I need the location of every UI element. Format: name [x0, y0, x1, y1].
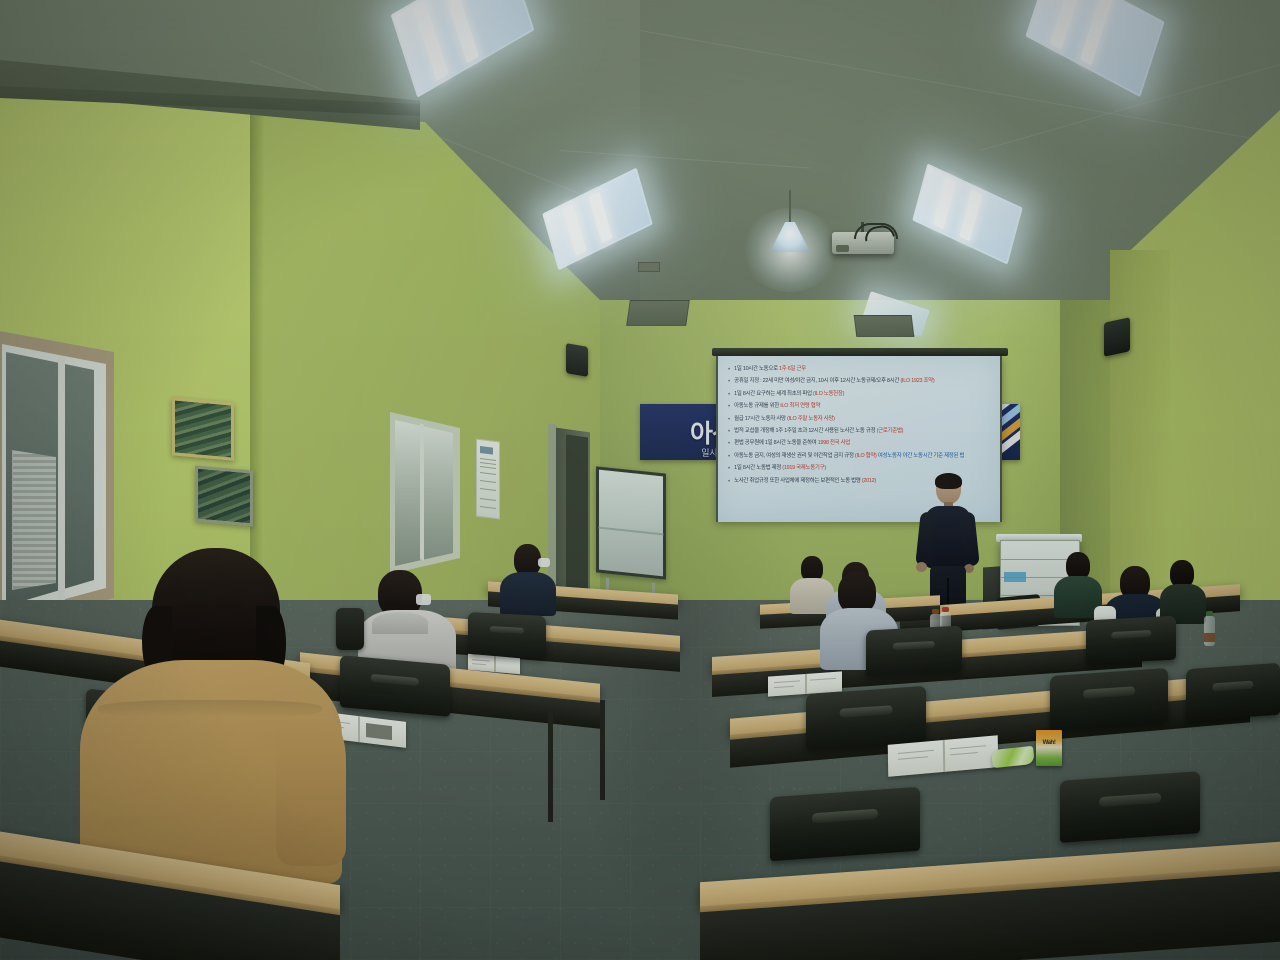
poster-line	[480, 458, 496, 461]
water-bottle	[1204, 616, 1215, 646]
slide-highlight-red: (근로기준법)	[877, 428, 904, 434]
text-line	[472, 659, 490, 662]
window-sash	[58, 355, 65, 601]
door-opening	[566, 434, 588, 605]
slide-highlight-red: (ILO 협약)	[855, 453, 877, 459]
text-line	[774, 680, 800, 683]
attendee	[1160, 560, 1206, 620]
attendee-body	[500, 572, 556, 616]
chair-handle-slot	[371, 673, 419, 686]
bullet-icon: •	[728, 478, 730, 486]
chair[interactable]	[866, 625, 962, 676]
chair-handle-slot	[1083, 686, 1135, 698]
slide-bullet-text: 월급 17시간 노동자 사망 (ILO 주말 노동자 사망)	[734, 416, 835, 424]
window-mullion	[420, 424, 424, 561]
slide-highlight-red: (1919 국제노동기구)	[782, 465, 826, 471]
slide-bullet-text: 1일 8시간 요구하는 세계 최초의 파업 (ILO 노동헌장)	[734, 391, 844, 399]
slide-highlight-red: (ILO 1923 조약)	[900, 378, 934, 384]
slide-highlight-red: (ILO 주말 노동자 사망)	[787, 416, 835, 422]
chair[interactable]	[1086, 616, 1176, 665]
text-line	[774, 686, 794, 688]
poster-line	[480, 462, 496, 465]
ceiling-projector	[832, 232, 894, 254]
bullet-icon: •	[728, 465, 730, 473]
slide-highlight-red: 1주 6일 근무	[779, 366, 806, 372]
bullet-icon: •	[728, 403, 730, 411]
slide-bullet-row: •아동노동 규제를 위한 ILO 최저 연령 협약	[728, 403, 990, 411]
attendee-hood	[372, 612, 428, 634]
ceiling-vent	[626, 300, 690, 326]
chair-handle-slot	[1212, 680, 1253, 691]
bullet-icon: •	[728, 391, 730, 399]
slide-bullet-text: 아동노동 금지, 여성의 재생산 권리 및 야간작업 금지 규정 (ILO 협약…	[734, 453, 964, 461]
bullet-icon: •	[728, 416, 730, 424]
poster-line	[480, 498, 496, 501]
chair[interactable]	[1186, 663, 1280, 722]
slide-bullet-text: 1일 8시간 노동법 제정 (1919 국제노동기구)	[734, 465, 826, 473]
screen-roller-case	[712, 348, 1008, 356]
chair[interactable]	[1060, 771, 1200, 843]
booklet-spine	[805, 674, 807, 694]
poster-line	[480, 466, 496, 469]
slide-bullet-text: 아동노동 규제를 위한 ILO 최저 연령 협약	[734, 403, 820, 411]
attendee	[1054, 552, 1102, 616]
booklet-spine	[943, 740, 945, 772]
chair-handle-slot	[1099, 792, 1161, 806]
juice-carton: Wah!	[1036, 730, 1062, 766]
slide-bullet-row: •월급 17시간 노동자 사망 (ILO 주말 노동자 사망)	[728, 416, 990, 424]
juice-label: Wah!	[1036, 740, 1062, 746]
mobile-whiteboard	[596, 466, 666, 579]
text-line	[898, 756, 928, 760]
bottle-label	[1204, 633, 1215, 642]
booklet-spine	[494, 656, 496, 672]
text-line	[472, 663, 486, 665]
poster-line	[480, 472, 496, 475]
bottle-cap	[932, 609, 939, 614]
bottle-cap	[942, 607, 949, 612]
bullet-icon: •	[728, 366, 730, 374]
slide-bullet-row: •아동노동 금지, 여성의 재생산 권리 및 야간작업 금지 규정 (ILO 협…	[728, 453, 990, 461]
poster-line	[480, 480, 496, 483]
slide-bullet-row: •1일 10시간 노동으로 1주 6일 근무	[728, 366, 990, 374]
presenter-hair	[935, 473, 962, 489]
window-glass	[395, 420, 453, 566]
classroom-photo: 아산시 과정 일시 : 2020. 6. 3 ~ 아산시비정규직노동자지원센터 …	[0, 0, 1280, 960]
pendant-lamp-rod	[789, 190, 791, 226]
ceiling-fixture	[638, 262, 660, 272]
bullet-icon: •	[728, 378, 730, 386]
slide-bullet-text: 법적 교섭을 개정해 1주 1주일 초과 12시간 사용된 노사간 노동 규정 …	[734, 428, 903, 436]
slide-highlight-red: (ILO 노동헌장)	[813, 391, 844, 397]
slide-highlight-red: 1998 전국 사업	[818, 440, 850, 446]
slide-bullet-row: •1일 8시간 노동법 제정 (1919 국제노동기구)	[728, 465, 990, 473]
desk-leg	[600, 700, 605, 800]
slide-highlight-red: (2012)	[862, 478, 876, 484]
wall-speaker	[566, 343, 588, 377]
attendee	[80, 548, 370, 878]
chair-handle-slot	[490, 626, 524, 635]
chair[interactable]	[468, 612, 546, 658]
text-line	[898, 750, 934, 754]
slide-bullet-row: •1일 8시간 요구하는 세계 최초의 파업 (ILO 노동헌장)	[728, 391, 990, 399]
slide-bullet-text: 공휴일 지정 : 22세 미만 여성/야간 금지, 10시 이후 12시간 노동…	[734, 378, 934, 386]
slide-highlight-red: ILO 최저 연령 협약	[780, 403, 820, 409]
wall-notice-poster	[476, 439, 500, 520]
text-line	[950, 752, 978, 755]
face-mask	[538, 558, 550, 567]
text-line	[810, 678, 836, 681]
attendee-arm	[276, 716, 346, 866]
chair-handle-slot	[812, 809, 878, 824]
slide-bullet-row: •공휴일 지정 : 22세 미만 여성/야간 금지, 10시 이후 12시간 노…	[728, 378, 990, 386]
projector-lens	[836, 245, 849, 252]
chair-handle-slot	[893, 641, 935, 651]
ceiling-vent	[854, 315, 915, 337]
slide-bullet-text: 노사간 취업규정 또한 사업체에 제정하는 보편적인 노동 법령 (2012)	[734, 478, 876, 486]
face-mask	[416, 594, 431, 605]
chair[interactable]	[1050, 668, 1168, 730]
slide-bullet-row: •편법 공무원에 1일 8시간 노동을 준하여 1998 전국 사업	[728, 440, 990, 448]
chair[interactable]	[806, 686, 926, 750]
poster-line	[480, 506, 496, 509]
chair-handle-slot	[840, 705, 893, 718]
slide-bullet-row: •법적 교섭을 개정해 1주 1주일 초과 12시간 사용된 노사간 노동 규정…	[728, 428, 990, 436]
chair[interactable]	[770, 787, 920, 861]
wall-speaker	[1104, 317, 1130, 357]
attendee	[500, 544, 556, 610]
slide-bullet-text: 편법 공무원에 1일 8시간 노동을 준하여 1998 전국 사업	[734, 440, 850, 448]
window-air-conditioner	[12, 450, 58, 592]
framed-group-photo	[172, 397, 234, 460]
slide-bullet-text: 1일 10시간 노동으로 1주 6일 근무	[734, 366, 806, 374]
bullet-icon: •	[728, 428, 730, 436]
bullet-icon: •	[728, 440, 730, 448]
framed-group-photo	[195, 465, 253, 526]
attendee-jacket-fold	[98, 700, 322, 718]
poster-line	[480, 488, 496, 491]
slide-highlight-blue: 여성노동자 야간 노동시간 기준 제정된 법	[877, 453, 965, 459]
desk-leg	[548, 712, 553, 822]
bullet-icon: •	[728, 453, 730, 461]
chair-handle-slot	[1111, 630, 1151, 639]
poster-header	[480, 446, 493, 455]
rack-equipment-panel	[1004, 572, 1026, 582]
presenter-hand	[916, 562, 927, 572]
bottle-cap	[1206, 611, 1213, 616]
text-line	[950, 745, 986, 749]
